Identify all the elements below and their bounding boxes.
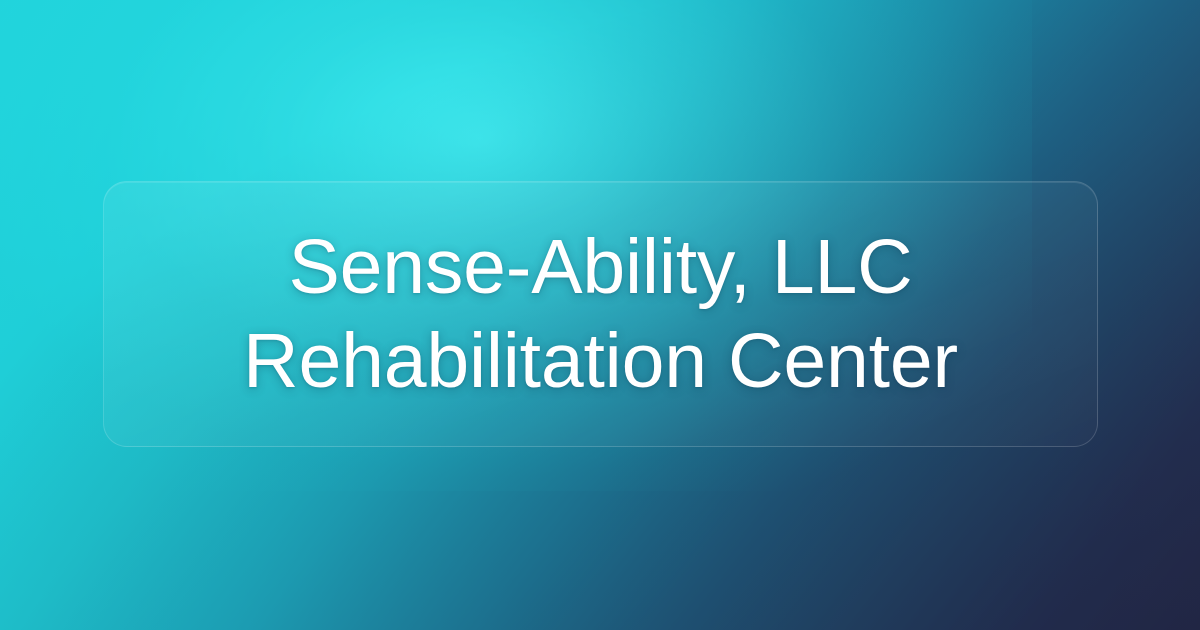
title-card: Sense-Ability, LLC Rehabilitation Center <box>103 181 1098 447</box>
title-line-2: Rehabilitation Center <box>130 314 1071 408</box>
title-block: Sense-Ability, LLC Rehabilitation Center <box>104 220 1097 408</box>
title-line-1: Sense-Ability, LLC <box>130 220 1071 314</box>
og-canvas: Sense-Ability, LLC Rehabilitation Center <box>0 0 1200 630</box>
